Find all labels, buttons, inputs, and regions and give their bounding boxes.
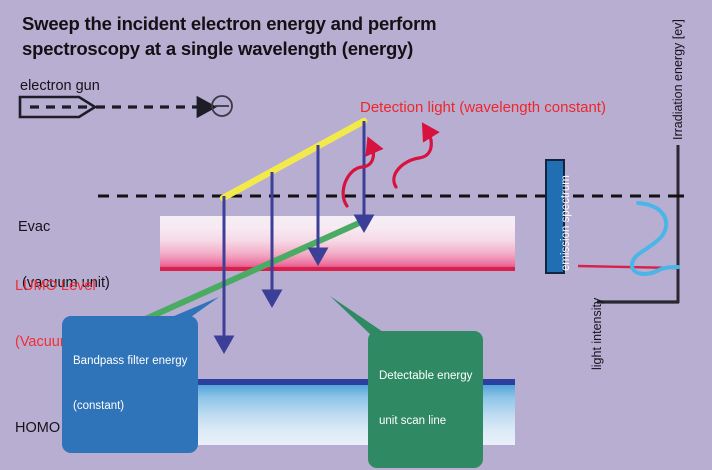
spectrum-chart — [578, 145, 684, 303]
lumo-label-line-1: LUMO Level — [15, 277, 115, 296]
page-title: Sweep the incident electron energy and p… — [22, 12, 522, 61]
detectable-callout-line-2: unit scan line — [379, 414, 472, 429]
chart-emission-spectrum-tail — [657, 267, 678, 271]
emission-spectrum-legend-label: emission spectrum — [560, 175, 572, 271]
bandpass-filter-callout: Bandpass filter energy (constant) — [62, 316, 198, 453]
detectable-callout-line-1: Detectable energy — [379, 369, 472, 384]
bandpass-callout-line-2: (constant) — [73, 399, 187, 414]
evac-label-line-1: Evac — [18, 218, 110, 237]
electron-gun-icon — [20, 97, 95, 117]
diagram-canvas: Sweep the incident electron energy and p… — [0, 0, 712, 470]
chart-x-axis-label: light intensity — [590, 298, 604, 370]
chart-emission-spectrum-curve — [632, 203, 666, 274]
emission-spectrum-legend-box: emission spectrum — [545, 159, 565, 274]
page-title-line-1: Sweep the incident electron energy and p… — [22, 12, 522, 37]
minus-circle-icon — [212, 96, 232, 116]
bandpass-callout-line-1: Bandpass filter energy — [73, 354, 187, 369]
electron-gun-label: electron gun — [20, 77, 100, 96]
page-title-line-2: spectroscopy at a single wavelength (ene… — [22, 37, 522, 62]
red-emission-arrow — [394, 132, 431, 187]
detection-light-label: Detection light (wavelength constant) — [360, 98, 606, 117]
detectable-energy-callout: Detectable energy unit scan line — [368, 331, 483, 468]
chart-y-axis-label: Irradiation energy [ev] — [671, 19, 685, 140]
